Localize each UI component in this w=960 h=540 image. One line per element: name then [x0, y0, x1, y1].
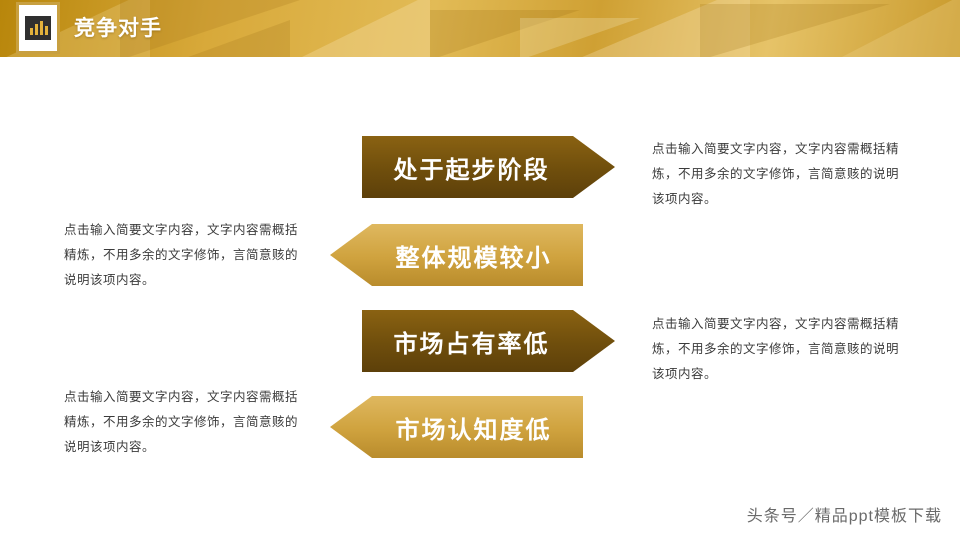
- arrow-item-2[interactable]: 整体规模较小: [330, 224, 583, 286]
- arrow-item-2-label: 整体规模较小: [396, 238, 552, 273]
- page-title: 竞争对手: [74, 12, 162, 42]
- slide: 竞争对手 处于起步阶段 整体规模较小 市场占有率低 市场认知度低 点击输入简要文…: [0, 0, 960, 540]
- arrow-item-3[interactable]: 市场占有率低: [362, 310, 615, 372]
- description-right-bottom: 点击输入简要文字内容，文字内容需概括精炼，不用多余的文字修饰，言简意赅的说明该项…: [652, 312, 902, 387]
- arrow-item-1-label: 处于起步阶段: [394, 150, 550, 185]
- watermark: 头条号／精品ppt模板下载: [747, 502, 942, 526]
- description-left-bottom: 点击输入简要文字内容，文字内容需概括精炼，不用多余的文字修饰，言简意赅的说明该项…: [64, 385, 310, 460]
- header-facet: [300, 0, 430, 57]
- arrow-item-3-label: 市场占有率低: [394, 324, 550, 359]
- header-facet: [180, 20, 290, 57]
- bar-chart-icon: [25, 16, 51, 40]
- header-facet: [840, 0, 960, 57]
- header-facet: [520, 18, 640, 57]
- arrow-item-4-label: 市场认知度低: [396, 410, 552, 445]
- logo-badge: [16, 2, 60, 54]
- description-left-top: 点击输入简要文字内容，文字内容需概括精炼，不用多余的文字修饰，言简意赅的说明该项…: [64, 218, 310, 293]
- arrow-item-4[interactable]: 市场认知度低: [330, 396, 583, 458]
- arrow-item-1[interactable]: 处于起步阶段: [362, 136, 615, 198]
- slide-footer: 头条号／精品ppt模板下载: [0, 486, 960, 540]
- slide-header: 竞争对手: [0, 0, 960, 57]
- description-right-top: 点击输入简要文字内容，文字内容需概括精炼，不用多余的文字修饰，言简意赅的说明该项…: [652, 137, 902, 212]
